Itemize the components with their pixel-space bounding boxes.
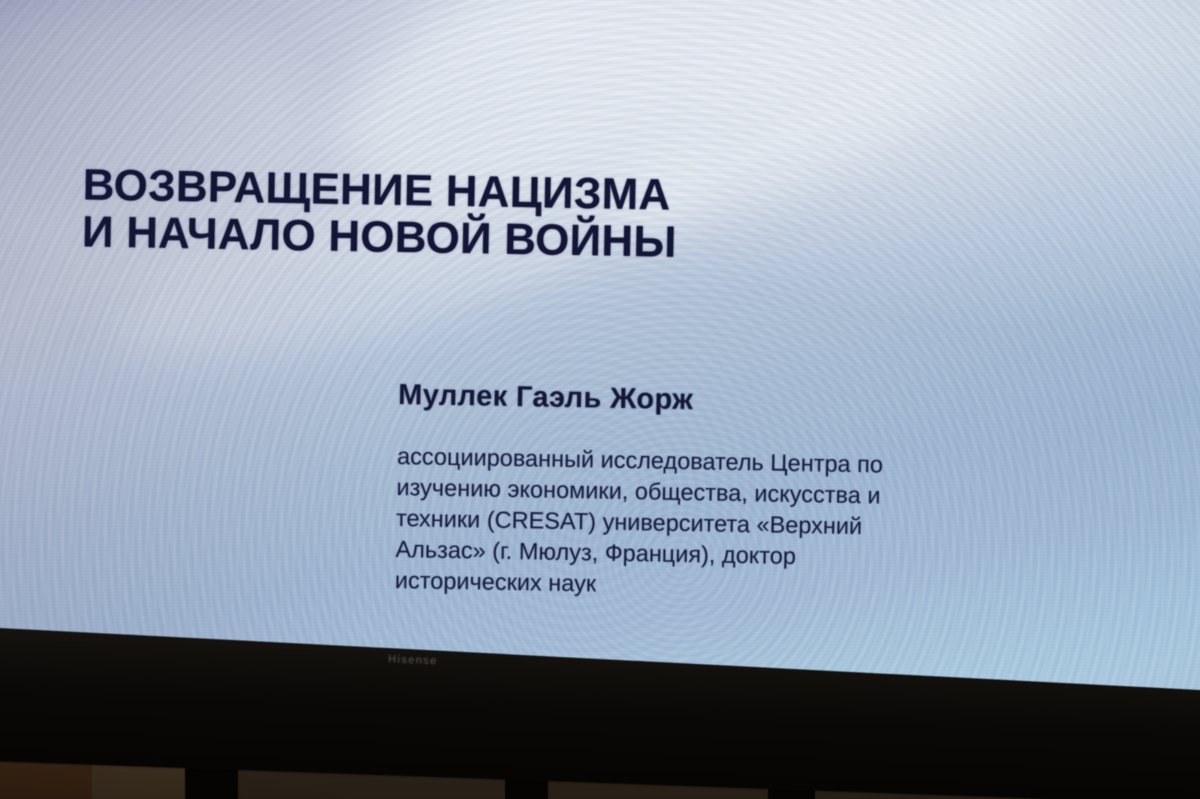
hisense-brand-logo: Hisense <box>388 653 438 667</box>
presentation-slide: ВОЗВРАЩЕНИЕ НАЦИЗМА И НАЧАЛО НОВОЙ ВОЙНЫ… <box>0 0 1200 710</box>
slide-content: ВОЗВРАЩЕНИЕ НАЦИЗМА И НАЧАЛО НОВОЙ ВОЙНЫ… <box>0 0 1200 711</box>
speaker-affiliation: ассоциированный исследователь Центра по … <box>395 441 1048 607</box>
slide-title: ВОЗВРАЩЕНИЕ НАЦИЗМА И НАЧАЛО НОВОЙ ВОЙНЫ <box>82 161 844 268</box>
photo-canvas: Hisense ВОЗВРАЩЕНИЕ НАЦИЗМА И НАЧАЛО НОВ… <box>0 0 1200 799</box>
speaker-name: Муллек Гаэль Жорж <box>398 379 1078 424</box>
